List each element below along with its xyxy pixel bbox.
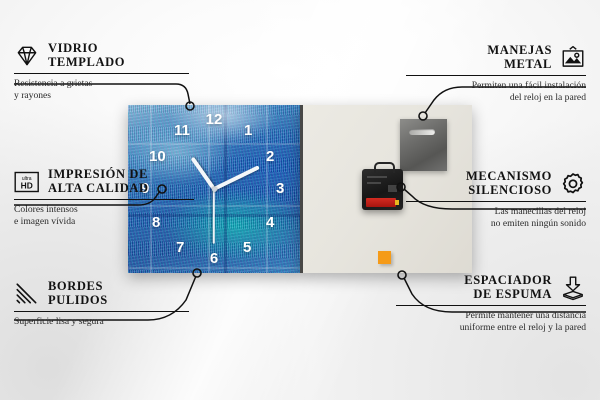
quartz-mechanism <box>362 169 403 210</box>
diamond-icon <box>14 43 40 69</box>
svg-text:HD: HD <box>21 180 33 190</box>
callout-rule <box>14 73 189 74</box>
callout-subtitle: Permiten una fácil instalación del reloj… <box>406 80 586 103</box>
picture-hanger-icon <box>560 45 586 71</box>
mechanism-detail-3 <box>388 185 397 192</box>
mechanism-battery <box>366 198 396 207</box>
callout-subtitle: Resistencia a grietas y rayones <box>14 78 189 101</box>
infographic-canvas: 12 1 2 3 4 5 6 7 8 9 10 11 <box>0 0 600 400</box>
callout-title: MECANISMO SILENCIOSO <box>466 170 552 197</box>
callout-espaciador-espuma: ESPACIADOR DE ESPUMA Permite mantener un… <box>396 274 586 334</box>
clock-center-pin <box>212 187 217 192</box>
mechanism-detail-2 <box>367 182 381 184</box>
clock-numeral-10: 10 <box>149 149 166 164</box>
mechanism-hanging-tab <box>374 162 395 173</box>
callout-title: IMPRESIÓN DE ALTA CALIDAD <box>48 168 149 195</box>
callout-mecanismo-silencioso: MECANISMO SILENCIOSO Las manecillas del … <box>406 170 586 230</box>
callout-title: ESPACIADOR DE ESPUMA <box>464 274 552 301</box>
hanger-slot <box>409 129 435 135</box>
gear-icon <box>560 171 586 197</box>
foam-spacer <box>378 251 391 264</box>
callout-rule <box>406 75 586 76</box>
mechanism-detail-1 <box>367 176 387 178</box>
clock-numeral-4: 4 <box>266 215 274 230</box>
clock-numeral-3: 3 <box>276 181 284 196</box>
callout-subtitle: Permite mantener una distancia uniforme … <box>396 310 586 333</box>
clock-numeral-5: 5 <box>243 240 251 255</box>
polished-edges-icon <box>14 281 40 307</box>
clock-numeral-11: 11 <box>174 123 190 138</box>
callout-impresion-alta-calidad: ultra HD IMPRESIÓN DE ALTA CALIDAD Color… <box>14 168 194 228</box>
callout-title: MANEJAS METAL <box>487 44 552 71</box>
callout-subtitle: Las manecillas del reloj no emiten ningú… <box>406 206 586 229</box>
callout-rule <box>14 199 194 200</box>
clock-numeral-2: 2 <box>266 149 274 164</box>
clock-second-hand <box>213 189 215 244</box>
clock-numeral-6: 6 <box>210 251 218 266</box>
ultra-hd-icon: ultra HD <box>14 169 40 195</box>
metal-hanger-plate <box>400 119 447 171</box>
callout-title: BORDES PULIDOS <box>48 280 108 307</box>
clock-numeral-7: 7 <box>176 240 184 255</box>
callout-manejas-metal: MANEJAS METAL Permiten una fácil instala… <box>406 44 586 104</box>
callout-subtitle: Superficie lisa y segura <box>14 316 189 328</box>
callout-rule <box>14 311 189 312</box>
clock-numeral-1: 1 <box>244 123 252 138</box>
callout-title: VIDRIO TEMPLADO <box>48 42 125 69</box>
callout-rule <box>406 201 586 202</box>
callout-bordes-pulidos: BORDES PULIDOS Superficie lisa y segura <box>14 280 189 328</box>
callout-vidrio-templado: VIDRIO TEMPLADO Resistencia a grietas y … <box>14 42 189 102</box>
foam-spacer-icon <box>560 275 586 301</box>
clock-numeral-12: 12 <box>206 112 223 127</box>
callout-rule <box>396 305 586 306</box>
callout-subtitle: Colores intensos e imagen vívida <box>14 204 194 227</box>
